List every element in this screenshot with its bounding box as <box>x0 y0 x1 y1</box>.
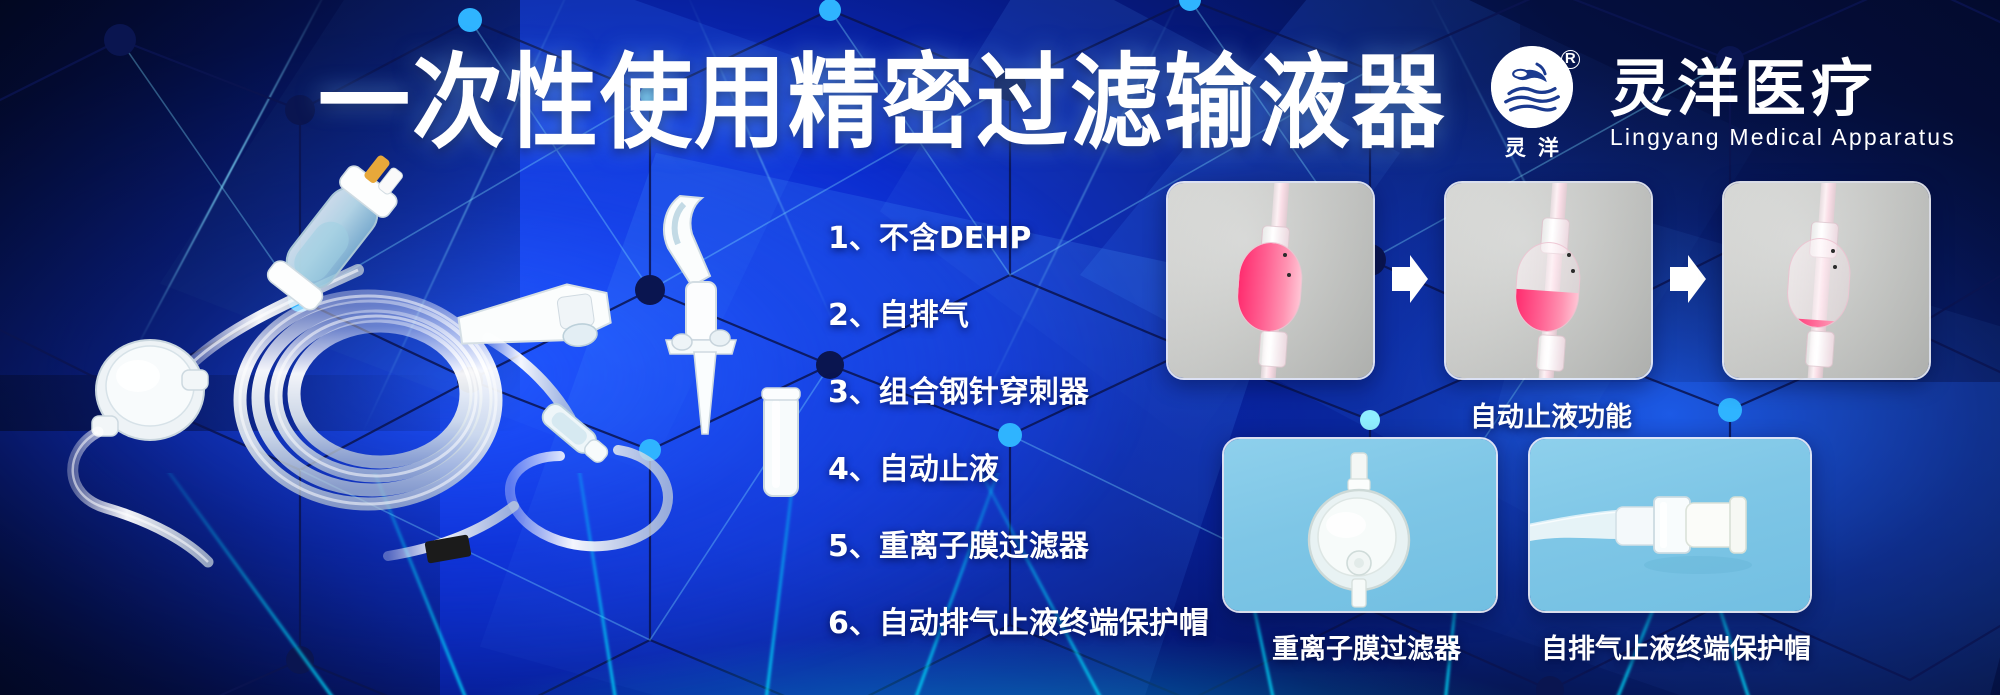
brand-name-en: Lingyang Medical Apparatus <box>1610 124 1956 151</box>
feature-item: 3、组合钢针穿刺器 <box>828 378 1188 408</box>
arrow-right-icon <box>1670 253 1706 305</box>
sequence-caption: 自动止液功能 <box>1470 395 1632 434</box>
feature-item: 6、自动排气止液终端保护帽 <box>828 609 1188 639</box>
brand-name-block: 灵洋医疗 Lingyang Medical Apparatus <box>1610 57 1956 151</box>
sequence-photo-2 <box>1444 181 1653 380</box>
product-caption-filter: 重离子膜过滤器 <box>1272 627 1461 666</box>
product-photo-cap <box>1528 437 1812 613</box>
feature-item: 1、不含DEHP <box>828 224 1188 254</box>
feature-item: 2、自排气 <box>828 301 1188 331</box>
brand-logo: R 灵洋 灵洋医疗 Lingyang Medical Apparatus <box>1480 46 1956 162</box>
sequence-photo-1 <box>1166 181 1375 380</box>
feature-item: 5、重离子膜过滤器 <box>828 532 1188 562</box>
product-caption-cap: 自排气止液终端保护帽 <box>1541 627 1811 666</box>
arrow-right-icon <box>1392 253 1428 305</box>
hero-product-image <box>58 150 838 580</box>
sequence-photo-3 <box>1722 181 1931 380</box>
brand-seal: R 灵洋 <box>1480 46 1584 162</box>
brand-name-cn: 灵洋医疗 <box>1610 57 1956 120</box>
promo-banner: 一次性使用精密过滤输液器 R 灵洋 灵洋医疗 Lingyang Medical … <box>0 0 2000 695</box>
product-photo-filter <box>1222 437 1498 613</box>
seal-label: 灵洋 <box>1480 132 1584 162</box>
feature-item: 4、自动止液 <box>828 455 1188 485</box>
feature-list: 1、不含DEHP 2、自排气 3、组合钢针穿刺器 4、自动止液 5、重离子膜过滤… <box>828 224 1188 639</box>
registered-trademark-icon: R <box>1561 50 1580 69</box>
page-title: 一次性使用精密过滤输液器 <box>318 52 1446 155</box>
